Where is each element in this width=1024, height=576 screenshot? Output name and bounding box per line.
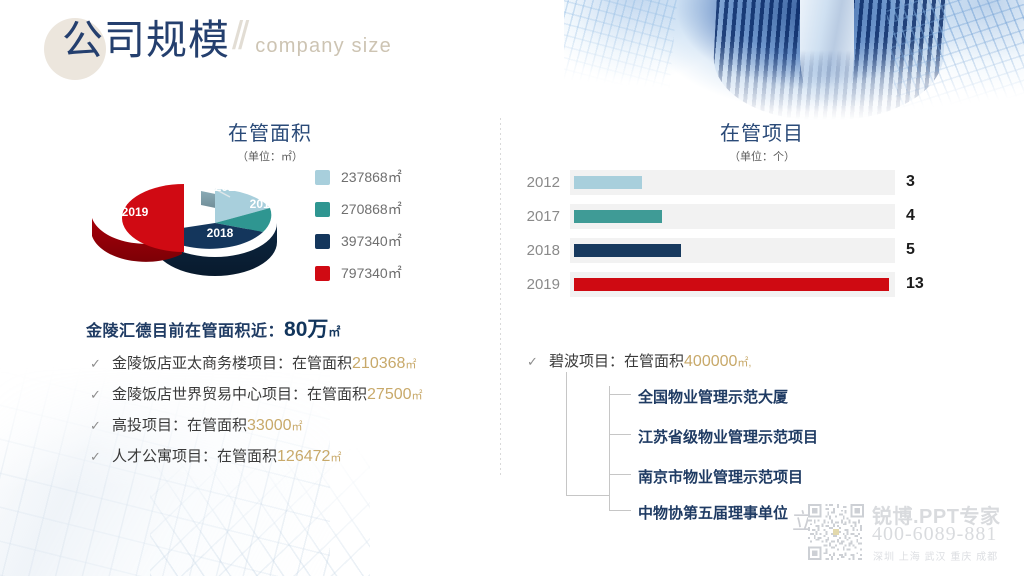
watermark-phone: 400-6089-881	[872, 523, 997, 546]
tree-spine	[609, 386, 610, 510]
bar-category-2018: 2018	[520, 242, 560, 259]
left-bullet-list: ✓ 金陵饭店亚太商务楼项目：在管面积 210368 ㎡ ✓ 金陵饭店世界贸易中心…	[90, 352, 423, 476]
bar-chart-title: 在管项目	[672, 124, 852, 144]
legend-item: 237868㎡	[315, 168, 445, 186]
bullet-text: 碧波项目：在管面积	[549, 350, 684, 371]
bullet-number: 27500	[367, 386, 412, 404]
legend-item: 270868㎡	[315, 200, 445, 218]
bar-chart: 2012 3 2017 4 2018 5 2019 13	[520, 168, 940, 304]
pie-chart-title: 在管面积	[180, 124, 360, 144]
bullet-number: 33000	[247, 417, 292, 435]
bar-row: 2019 13	[520, 270, 940, 298]
qr-code-icon	[808, 504, 864, 560]
tree-twig	[609, 474, 631, 475]
legend-swatch-2019	[315, 266, 330, 281]
list-item: ✓ 金陵饭店世界贸易中心项目：在管面积 27500 ㎡	[90, 383, 423, 414]
list-item: ✓ 高投项目：在管面积 33000 ㎡	[90, 414, 423, 445]
bar-fill-2012	[574, 176, 642, 189]
tree-twig	[609, 510, 631, 511]
legend-label-2018: 397340㎡	[341, 231, 402, 251]
bullet-unit: ㎡	[292, 418, 303, 434]
bullet-text: 人才公寓项目：在管面积	[112, 445, 277, 466]
bar-value-2012: 3	[906, 173, 940, 191]
bar-value-2017: 4	[906, 207, 940, 225]
legend-swatch-2012	[315, 170, 330, 185]
tree-twig	[609, 394, 631, 395]
legend-item: 797340㎡	[315, 264, 445, 282]
bar-track-2012	[570, 170, 895, 195]
bar-chart-unit: （单位：个）	[672, 152, 852, 163]
bullet-text: 金陵饭店亚太商务楼项目：在管面积	[112, 352, 352, 373]
bullet-unit: ㎡,	[737, 354, 751, 370]
column-divider	[500, 118, 501, 475]
list-item: ✓ 金陵饭店亚太商务楼项目：在管面积 210368 ㎡	[90, 352, 423, 383]
bar-category-2017: 2017	[520, 208, 560, 225]
bullet-number: 210368	[352, 355, 405, 373]
bullet-unit: ㎡	[405, 356, 416, 372]
legend-swatch-2017	[315, 202, 330, 217]
watermark-cities: 深圳 上海 武汉 重庆 成都	[873, 548, 998, 563]
legend-swatch-2018	[315, 234, 330, 249]
building-fins	[710, 0, 947, 120]
pie-chart: 2012 2017 2018 2019	[80, 160, 305, 295]
building-grid-right	[884, 0, 1024, 115]
building-grid-left	[564, 0, 679, 99]
legend-label-2012: 237868㎡	[341, 167, 402, 187]
legend-label-2019: 797340㎡	[341, 263, 402, 283]
bar-fill-2018	[574, 244, 681, 257]
watermark: 立	[800, 498, 1016, 570]
check-icon: ✓	[90, 387, 112, 403]
pie-label-2012: 2012	[215, 180, 242, 194]
list-item: ✓ 人才公寓项目：在管面积 126472 ㎡	[90, 445, 423, 476]
bar-track-2019	[570, 272, 895, 297]
tree-stem	[566, 372, 567, 496]
bar-value-2018: 5	[906, 241, 940, 259]
bar-value-2019: 13	[906, 275, 940, 293]
pie-chart-svg: 2012 2017 2018 2019	[80, 160, 305, 295]
bullet-unit: ㎡	[412, 387, 423, 403]
legend-item: 397340㎡	[315, 232, 445, 250]
callout-unit: ㎡	[328, 325, 340, 339]
callout-value: 80万	[284, 318, 328, 341]
bar-row: 2012 3	[520, 168, 940, 196]
bullet-number: 126472	[277, 448, 330, 466]
tree-item-jiangsu-provincial-demo: 江苏省级物业管理示范项目	[638, 426, 818, 447]
bar-fill-2019	[574, 278, 889, 291]
tree-stem-foot	[566, 495, 610, 496]
bar-row: 2018 5	[520, 236, 940, 264]
pie-label-2018: 2018	[207, 226, 234, 240]
check-icon: ✓	[90, 418, 112, 434]
bullet-text: 高投项目：在管面积	[112, 414, 247, 435]
building-core	[800, 0, 854, 104]
area-callout: 金陵汇德目前在管面积近：80万㎡	[86, 313, 340, 343]
bar-category-2012: 2012	[520, 174, 560, 191]
tree-item-national-demo-building: 全国物业管理示范大厦	[638, 386, 788, 407]
header-slash-decor: //	[232, 14, 244, 59]
bullet-text: 金陵饭店世界贸易中心项目：在管面积	[112, 383, 367, 404]
bar-row: 2017 4	[520, 202, 940, 230]
bullet-unit: ㎡	[330, 449, 341, 465]
tree-item-nanjing-city-demo: 南京市物业管理示范项目	[638, 466, 803, 487]
page-title: 公司规模	[62, 20, 230, 61]
check-icon: ✓	[90, 449, 112, 465]
bar-fill-2017	[574, 210, 662, 223]
bar-track-2017	[570, 204, 895, 229]
header-title-row: 公司规模 // company size	[62, 16, 392, 61]
callout-lead: 金陵汇德目前在管面积近：	[86, 323, 284, 340]
legend-label-2017: 270868㎡	[341, 199, 402, 219]
pie-label-2019: 2019	[122, 205, 149, 219]
bullet-number: 400000	[684, 353, 737, 371]
tree-twig	[609, 434, 631, 435]
pie-legend: 237868㎡ 270868㎡ 397340㎡ 797340㎡	[315, 168, 445, 296]
slide-canvas: 公司规模 // company size 在管面积 （单位：㎡）	[0, 0, 1024, 576]
tree-item-association-council-member: 中物协第五届理事单位	[638, 502, 788, 523]
bar-category-2019: 2019	[520, 276, 560, 293]
page-subtitle: company size	[255, 35, 392, 58]
check-icon: ✓	[527, 354, 549, 370]
pie-label-2017: 2017	[250, 197, 277, 211]
check-icon: ✓	[90, 356, 112, 372]
bar-track-2018	[570, 238, 895, 263]
